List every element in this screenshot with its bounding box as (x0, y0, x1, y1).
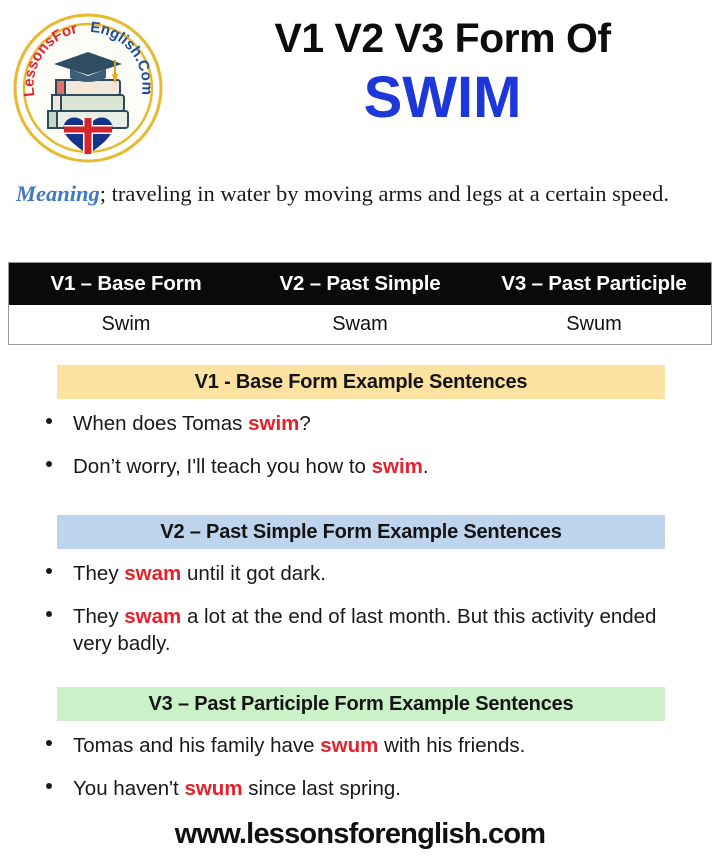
meaning-text: traveling in water by moving arms and le… (106, 181, 669, 206)
section-band-v3: V3 – Past Participle Form Example Senten… (57, 687, 665, 721)
sentence-after: since last spring. (243, 777, 401, 800)
section-band-v2-label: V2 – Past Simple Form Example Sentences (160, 521, 561, 544)
verb-forms-table: V1 – Base Form V2 – Past Simple V3 – Pas… (8, 262, 712, 345)
bullet-icon (46, 611, 52, 617)
list-item: They swam a lot at the end of last month… (0, 603, 720, 658)
table-header-v1: V1 – Base Form (9, 263, 243, 305)
sentence-before: They (73, 605, 124, 628)
footer-url[interactable]: www.lessonsforenglish.com (0, 818, 720, 851)
sentence-highlight: swam (124, 605, 181, 628)
sentence-after: until it got dark. (181, 562, 326, 585)
page-title: V1 V2 V3 Form Of SWIM (175, 16, 710, 132)
bullet-icon (46, 418, 52, 424)
sentence-list-v1: When does Tomas swim? Don’t worry, I'll … (0, 410, 720, 495)
sentence-before: You haven't (73, 777, 184, 800)
logo-badge-icon: LessonsFor English.Com (12, 12, 164, 164)
sentence-highlight: swim (248, 412, 299, 435)
table-cell-v2: Swam (243, 305, 477, 344)
sentence-list-v2: They swam until it got dark. They swam a… (0, 560, 720, 673)
sentence-highlight: swam (124, 562, 181, 585)
table-cell-v3: Swum (477, 305, 711, 344)
page-header: LessonsFor English.Com (0, 0, 720, 168)
sentence-before: Don’t worry, I'll teach you how to (73, 455, 372, 478)
title-verb: SWIM (175, 65, 710, 132)
section-band-v2: V2 – Past Simple Form Example Sentences (57, 515, 665, 549)
title-primary: V1 V2 V3 Form Of (175, 16, 710, 61)
list-item: Don’t worry, I'll teach you how to swim. (0, 453, 720, 481)
meaning-paragraph: Meaning; traveling in water by moving ar… (16, 178, 706, 210)
bullet-icon (46, 740, 52, 746)
sentence-before: When does Tomas (73, 412, 248, 435)
sentence-after: with his friends. (378, 734, 525, 757)
table-header-v3: V3 – Past Participle (477, 263, 711, 305)
sentence-highlight: swum (320, 734, 378, 757)
sentence-highlight: swim (372, 455, 423, 478)
sentence-before: Tomas and his family have (73, 734, 320, 757)
section-band-v1: V1 - Base Form Example Sentences (57, 365, 665, 399)
table-header-v2: V2 – Past Simple (243, 263, 477, 305)
list-item: They swam until it got dark. (0, 560, 720, 588)
bullet-icon (46, 783, 52, 789)
list-item: Tomas and his family have swum with his … (0, 732, 720, 760)
list-item: You haven't swum since last spring. (0, 775, 720, 803)
section-band-v1-label: V1 - Base Form Example Sentences (195, 371, 528, 394)
meaning-label: Meaning (16, 181, 100, 206)
table-row: Swim Swam Swum (9, 305, 711, 344)
sentence-list-v3: Tomas and his family have swum with his … (0, 732, 720, 817)
footer-url-label: www.lessonsforenglish.com (175, 818, 546, 850)
sentence-after: ? (299, 412, 310, 435)
sentence-before: They (73, 562, 124, 585)
table-header-row: V1 – Base Form V2 – Past Simple V3 – Pas… (9, 263, 711, 305)
list-item: When does Tomas swim? (0, 410, 720, 438)
table-cell-v1: Swim (9, 305, 243, 344)
lessonsforenglish-logo: LessonsFor English.Com (12, 12, 164, 164)
sentence-after: . (423, 455, 429, 478)
bullet-icon (46, 568, 52, 574)
section-band-v3-label: V3 – Past Participle Form Example Senten… (149, 693, 574, 716)
bullet-icon (46, 461, 52, 467)
sentence-highlight: swum (184, 777, 242, 800)
